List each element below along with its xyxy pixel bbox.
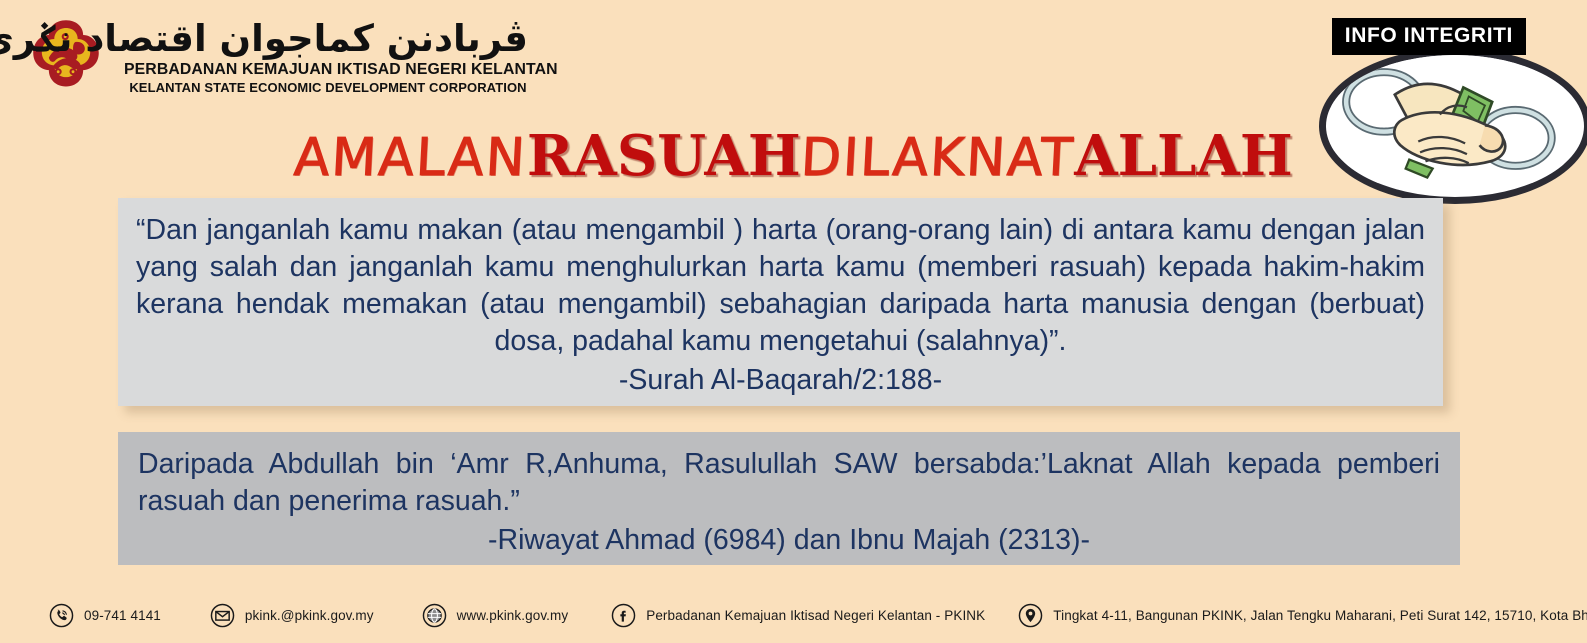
footer-website[interactable]: www.pkink.gov.my xyxy=(421,602,569,629)
envelope-icon xyxy=(209,602,236,629)
facebook-page-name: Perbadanan Kemajuan Iktisad Negeri Kelan… xyxy=(646,608,985,623)
org-name-malay: PERBADANAN KEMAJUAN IKTISAD NEGERI KELAN… xyxy=(124,61,532,79)
footer-address: Tingkat 4-11, Bangunan PKINK, Jalan Teng… xyxy=(1017,602,1587,629)
footer-phone[interactable]: 09-741 4141 xyxy=(48,602,161,629)
facebook-icon xyxy=(610,602,637,629)
title-part-allah: ALLAH xyxy=(1074,128,1293,184)
quran-verse-citation: -Surah Al-Baqarah/2:188- xyxy=(136,362,1425,399)
hadith-block: Daripada Abdullah bin ‘Amr R,Anhuma, Ras… xyxy=(118,432,1460,565)
jawi-org-name: ڤربادنن كماجوان اقتصاد نݢري كلنتن xyxy=(128,20,528,57)
org-name-english: KELANTAN STATE ECONOMIC DEVELOPMENT CORP… xyxy=(128,80,528,95)
poster-root: ڤربادنن كماجوان اقتصاد نݢري كلنتن PERBAD… xyxy=(0,0,1587,643)
organization-name-block: ڤربادنن كماجوان اقتصاد نݢري كلنتن PERBAD… xyxy=(128,20,528,95)
header: ڤربادنن كماجوان اقتصاد نݢري كلنتن PERBAD… xyxy=(0,0,1587,120)
phone-icon xyxy=(48,602,75,629)
quran-verse-text: “Dan janganlah kamu makan (atau mengambi… xyxy=(136,212,1425,360)
address-text: Tingkat 4-11, Bangunan PKINK, Jalan Teng… xyxy=(1053,608,1587,623)
title-part-amalan: AMALAN xyxy=(293,132,528,184)
title-part-dilaknat: DILAKNAT xyxy=(799,132,1075,184)
location-pin-icon xyxy=(1017,602,1044,629)
info-integriti-badge: INFO INTEGRITI xyxy=(1332,18,1526,55)
email-address: pkink.@pkink.gov.my xyxy=(245,608,374,623)
page-title: AMALAN RASUAH DILAKNAT ALLAH xyxy=(0,128,1587,184)
footer-facebook[interactable]: Perbadanan Kemajuan Iktisad Negeri Kelan… xyxy=(610,602,985,629)
hadith-text: Daripada Abdullah bin ‘Amr R,Anhuma, Ras… xyxy=(138,446,1440,520)
quran-verse-block: “Dan janganlah kamu makan (atau mengambi… xyxy=(118,198,1443,406)
website-url: www.pkink.gov.my xyxy=(457,608,569,623)
globe-icon xyxy=(421,602,448,629)
footer-contact-bar: 09-741 4141 pkink.@pkink.gov.my xyxy=(0,595,1587,635)
hadith-citation: -Riwayat Ahmad (6984) dan Ibnu Majah (23… xyxy=(138,522,1440,559)
title-part-rasuah: RASUAH xyxy=(527,128,801,184)
phone-number: 09-741 4141 xyxy=(84,608,161,623)
footer-email[interactable]: pkink.@pkink.gov.my xyxy=(209,602,374,629)
